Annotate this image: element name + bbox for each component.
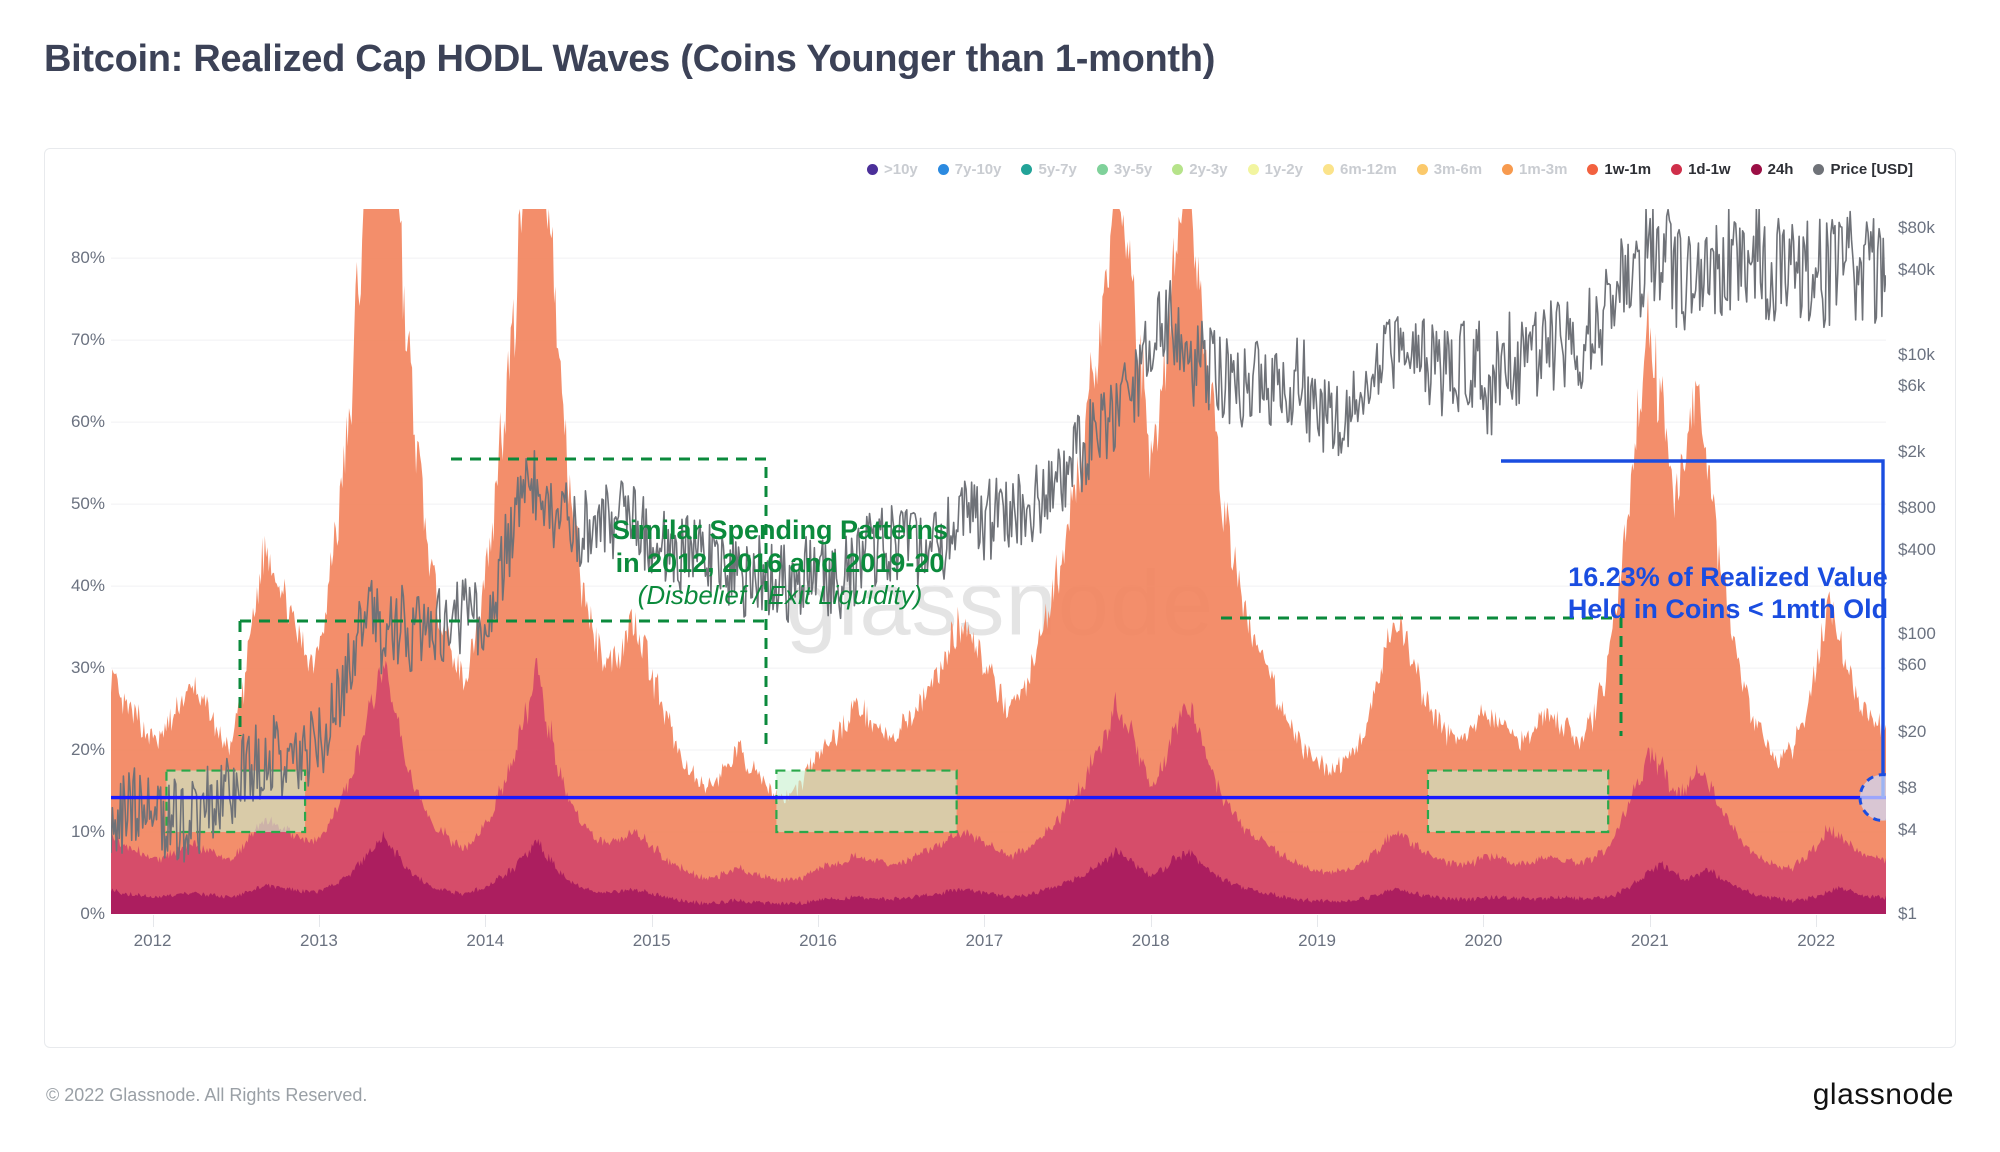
legend-dot-icon [1671,164,1682,175]
legend-item-1y-2y[interactable]: 1y-2y [1248,161,1303,178]
y-axis-right-tick: $40k [1898,260,1935,280]
y-axis-right-tick: $2k [1898,442,1925,462]
legend-dot-icon [1587,164,1598,175]
legend-dot-icon [1021,164,1032,175]
y-axis-right-tick: $10k [1898,345,1935,365]
y-axis-left-tick: 10% [71,822,105,842]
x-axis-tick-mark [1483,915,1484,927]
chart-legend: >10y7y-10y5y-7y3y-5y2y-3y1y-2y6m-12m3m-6… [45,161,1955,178]
legend-item-5y-7y[interactable]: 5y-7y [1021,161,1076,178]
y-axis-left-tick: 60% [71,412,105,432]
highlight-box-3 [1428,771,1608,832]
y-axis-right-tick: $8 [1898,778,1917,798]
legend-item-price--usd-[interactable]: Price [USD] [1813,161,1913,178]
legend-dot-icon [1248,164,1259,175]
legend-item-label: 3m-6m [1434,161,1482,178]
y-axis-right-tick: $4 [1898,820,1917,840]
legend-item-6m-12m[interactable]: 6m-12m [1323,161,1397,178]
legend-item-label: 1y-2y [1265,161,1303,178]
legend-dot-icon [1417,164,1428,175]
y-axis-left-tick: 80% [71,248,105,268]
x-axis-tick-mark [153,915,154,927]
x-axis-tick: 2016 [799,931,837,951]
x-axis-tick: 2020 [1465,931,1503,951]
x-axis-tick-mark [1816,915,1817,927]
legend-item-label: 24h [1768,161,1794,178]
y-axis-left-tick: 70% [71,330,105,350]
y-axis-left: 0%10%20%30%40%50%60%70%80% [45,209,105,914]
legend-item-label: >10y [884,161,918,178]
x-axis-tick-mark [1317,915,1318,927]
y-axis-right-tick: $800 [1898,498,1936,518]
x-axis-tick-mark [1151,915,1152,927]
legend-dot-icon [938,164,949,175]
x-axis-tick: 2022 [1797,931,1835,951]
y-axis-left-tick: 50% [71,494,105,514]
legend-item-1d-1w[interactable]: 1d-1w [1671,161,1731,178]
x-axis-tick-mark [485,915,486,927]
legend-item-label: Price [USD] [1830,161,1913,178]
chart-svg [111,209,1886,914]
highlight-box-2 [776,771,956,832]
legend-item-24h[interactable]: 24h [1751,161,1794,178]
legend-item--10y[interactable]: >10y [867,161,918,178]
legend-item-2y-3y[interactable]: 2y-3y [1172,161,1227,178]
x-axis-tick-mark [984,915,985,927]
legend-item-label: 5y-7y [1038,161,1076,178]
y-axis-right-tick: $60 [1898,655,1926,675]
chart-page: Bitcoin: Realized Cap HODL Waves (Coins … [0,0,2000,1152]
y-axis-right-tick: $80k [1898,218,1935,238]
y-axis-right-tick: $20 [1898,722,1926,742]
legend-item-label: 7y-10y [955,161,1002,178]
y-axis-left-tick: 20% [71,740,105,760]
legend-dot-icon [1502,164,1513,175]
y-axis-right-tick: $400 [1898,540,1936,560]
x-axis-tick-mark [652,915,653,927]
legend-dot-icon [1097,164,1108,175]
legend-item-1m-3m[interactable]: 1m-3m [1502,161,1567,178]
y-axis-right-tick: $1 [1898,904,1917,924]
y-axis-left-tick: 0% [80,904,105,924]
x-axis-tick-mark [1650,915,1651,927]
page-title: Bitcoin: Realized Cap HODL Waves (Coins … [44,38,1215,81]
legend-item-label: 1d-1w [1688,161,1731,178]
x-axis-tick: 2017 [965,931,1003,951]
legend-item-label: 3y-5y [1114,161,1152,178]
y-axis-right-tick: $6k [1898,376,1925,396]
legend-item-3m-6m[interactable]: 3m-6m [1417,161,1482,178]
plot-area [111,209,1886,914]
x-axis-tick: 2021 [1631,931,1669,951]
legend-dot-icon [1813,164,1824,175]
y-axis-right-tick: $100 [1898,624,1936,644]
legend-dot-icon [867,164,878,175]
legend-item-1w-1m[interactable]: 1w-1m [1587,161,1651,178]
legend-item-label: 2y-3y [1189,161,1227,178]
x-axis-tick-mark [818,915,819,927]
x-axis-tick: 2014 [466,931,504,951]
legend-dot-icon [1172,164,1183,175]
legend-item-label: 6m-12m [1340,161,1397,178]
x-axis-tick: 2013 [300,931,338,951]
footer-copyright: © 2022 Glassnode. All Rights Reserved. [46,1085,367,1106]
y-axis-left-tick: 30% [71,658,105,678]
x-axis-tick: 2018 [1132,931,1170,951]
y-axis-left-tick: 40% [71,576,105,596]
legend-item-7y-10y[interactable]: 7y-10y [938,161,1002,178]
y-axis-right: $80k$40k$10k$6k$2k$800$400$100$60$20$8$4… [1892,209,1956,914]
glassnode-logo: glassnode [1813,1078,1954,1112]
legend-item-3y-5y[interactable]: 3y-5y [1097,161,1152,178]
x-axis-tick: 2019 [1298,931,1336,951]
x-axis-tick-mark [319,915,320,927]
legend-dot-icon [1323,164,1334,175]
chart-card: >10y7y-10y5y-7y3y-5y2y-3y1y-2y6m-12m3m-6… [44,148,1956,1048]
legend-item-label: 1m-3m [1519,161,1567,178]
legend-dot-icon [1751,164,1762,175]
x-axis-tick: 2015 [633,931,671,951]
x-axis-tick: 2012 [134,931,172,951]
legend-item-label: 1w-1m [1604,161,1651,178]
